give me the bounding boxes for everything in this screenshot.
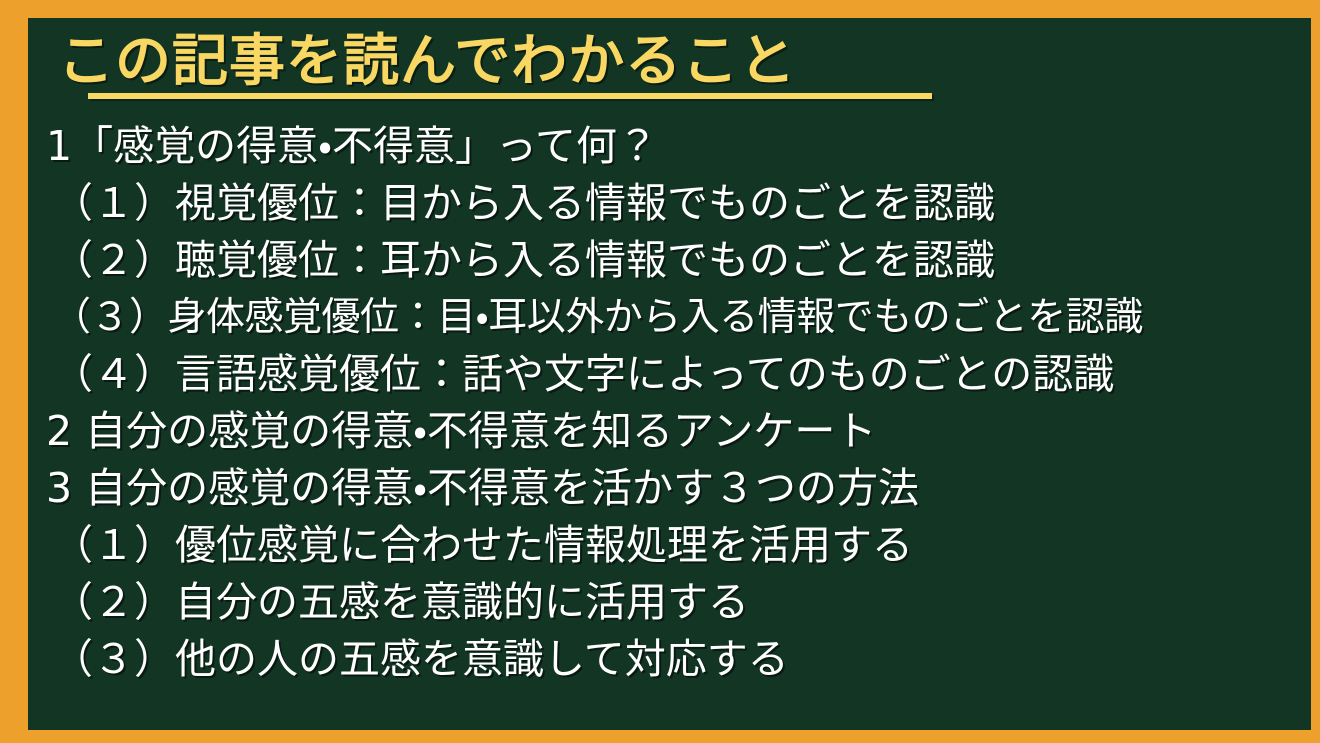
list-item: 2 自分の感覚の得意・不得意を知るアンケート [28,403,1311,460]
title-underline [88,93,932,99]
slide-frame: この記事を読んでわかること 1「感覚の得意・不得意」って何？ （１）視覚優位：目… [0,0,1320,743]
list-item: （１）視覚優位：目から入る情報でものごとを認識 [28,175,1311,232]
list-item: 1「感覚の得意・不得意」って何？ [28,118,1311,175]
list-item: （２）自分の五感を意識的に活用する [28,574,1311,631]
list-item: 3 自分の感覚の得意・不得意を活かす３つの方法 [28,460,1311,517]
list-item: （３）他の人の五感を意識して対応する [28,631,1311,688]
list-item: （２）聴覚優位：耳から入る情報でものごとを認識 [28,232,1311,289]
list-item: （１）優位感覚に合わせた情報処理を活用する [28,517,1311,574]
chalkboard-panel: この記事を読んでわかること 1「感覚の得意・不得意」って何？ （１）視覚優位：目… [28,18,1311,730]
list-item: （３）身体感覚優位：目・耳以外から入る情報でものごとを認識 [28,289,1311,346]
title-area: この記事を読んでわかること [58,23,1298,107]
list-item: （４）言語感覚優位：話や文字によってのものごとの認識 [28,346,1311,403]
outline-list: 1「感覚の得意・不得意」って何？ （１）視覚優位：目から入る情報でものごとを認識… [28,118,1311,688]
page-title: この記事を読んでわかること [58,23,796,101]
